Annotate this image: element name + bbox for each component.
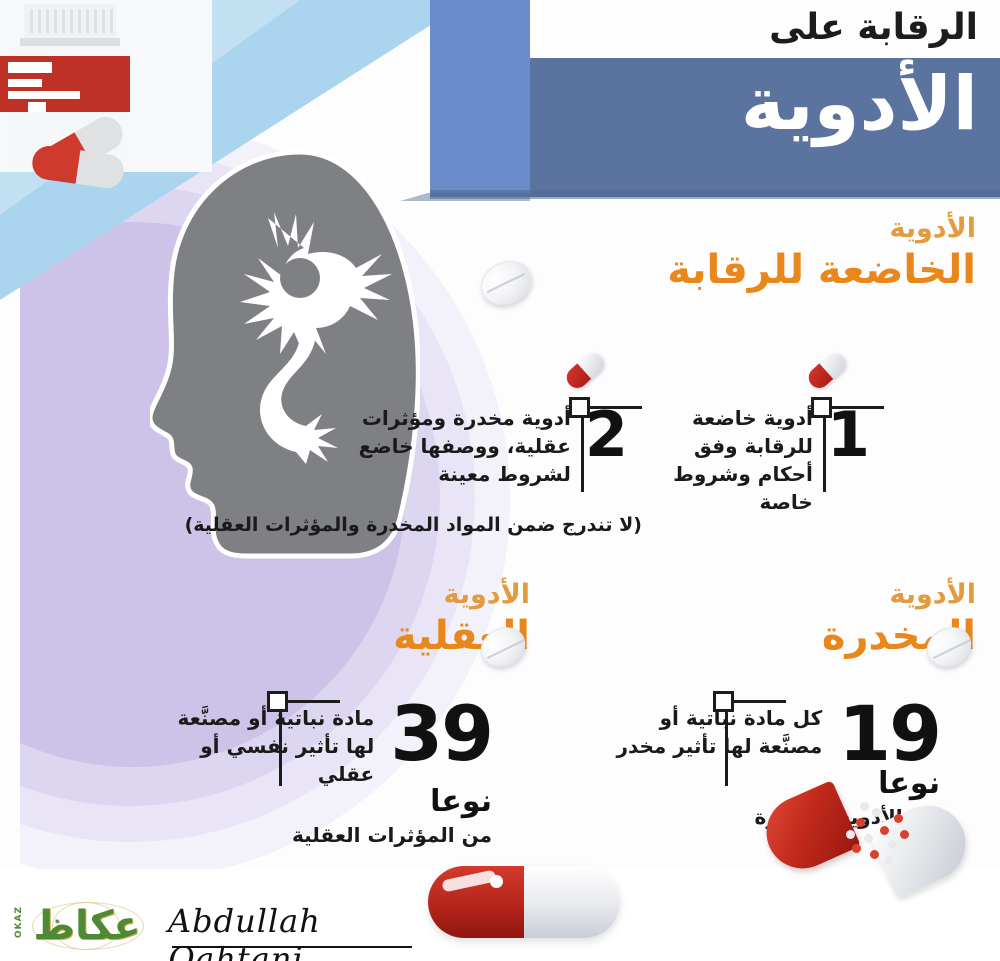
page-title: الأدوية — [458, 52, 978, 156]
white-tablet-icon-controlled — [480, 262, 532, 304]
stat-narcotic-description: كل مادة نباتية أو مصنَّعة لها تأثير مخدر — [602, 698, 822, 760]
section-title-controlled: الخاضعة للرقابة — [546, 246, 976, 294]
white-tablet-icon-psychotropic — [480, 628, 526, 666]
author-signature-text: Abdullah Qahtani — [168, 902, 321, 961]
open-capsule-granules-icon — [760, 778, 990, 898]
list-item-2-note: (لا تندرج ضمن المواد المخدرة والمؤثرات ا… — [172, 512, 642, 538]
stat-psychotropic-description: مادة نباتية أو مصنَّعة لها تأثير نفسي أو… — [159, 698, 374, 788]
section-eyebrow-controlled: الأدوية — [546, 212, 976, 246]
okaz-logo-text: عكاظ — [28, 904, 146, 948]
list-item-2: 2 أدوية مخدرة ومؤثرات عقلية، ووصفها خاضع… — [342, 404, 632, 488]
infographic-canvas: الرقابة على الأدوية الأدوية الخاضعة للرق… — [0, 0, 1000, 961]
stat-narcotic-value: 19 — [838, 698, 940, 770]
author-signature: Abdullah Qahtani — [168, 902, 436, 954]
stat-psychotropic: 39 مادة نباتية أو مصنَّعة لها تأثير نفسي… — [72, 698, 492, 848]
stat-psychotropic-of-label: من المؤثرات العقلية — [72, 822, 492, 848]
okaz-logo: OKAZ عكاظ — [14, 900, 148, 952]
list-item-1-text: أدوية خاضعة للرقابة وفق أحكام وشروط خاصة — [638, 404, 813, 516]
stat-psychotropic-value: 39 — [390, 698, 492, 770]
large-red-white-capsule-icon — [428, 866, 620, 938]
list-item-2-text: أدوية مخدرة ومؤثرات عقلية، ووصفها خاضع ل… — [356, 404, 571, 488]
white-tablet-icon-narcotic — [926, 628, 972, 666]
section-heading-controlled: الأدوية الخاضعة للرقابة — [546, 212, 976, 294]
section-eyebrow-narcotic: الأدوية — [646, 578, 976, 612]
list-item-1: 1 أدوية خاضعة للرقابة وفق أحكام وشروط خا… — [634, 404, 874, 516]
list-item-1-number: 1 — [827, 404, 870, 466]
red-white-capsule-icon-1 — [804, 348, 850, 394]
okaz-logo-latin: OKAZ — [14, 906, 28, 938]
list-item-2-number: 2 — [585, 404, 628, 466]
section-eyebrow-psychotropic: الأدوية — [230, 578, 530, 612]
red-white-capsule-icon-2 — [562, 348, 608, 394]
head-silhouette-neuron-icon — [150, 150, 420, 560]
stat-psychotropic-unit: نوعا — [72, 784, 492, 820]
page-title-kicker: الرقابة على — [458, 2, 978, 54]
